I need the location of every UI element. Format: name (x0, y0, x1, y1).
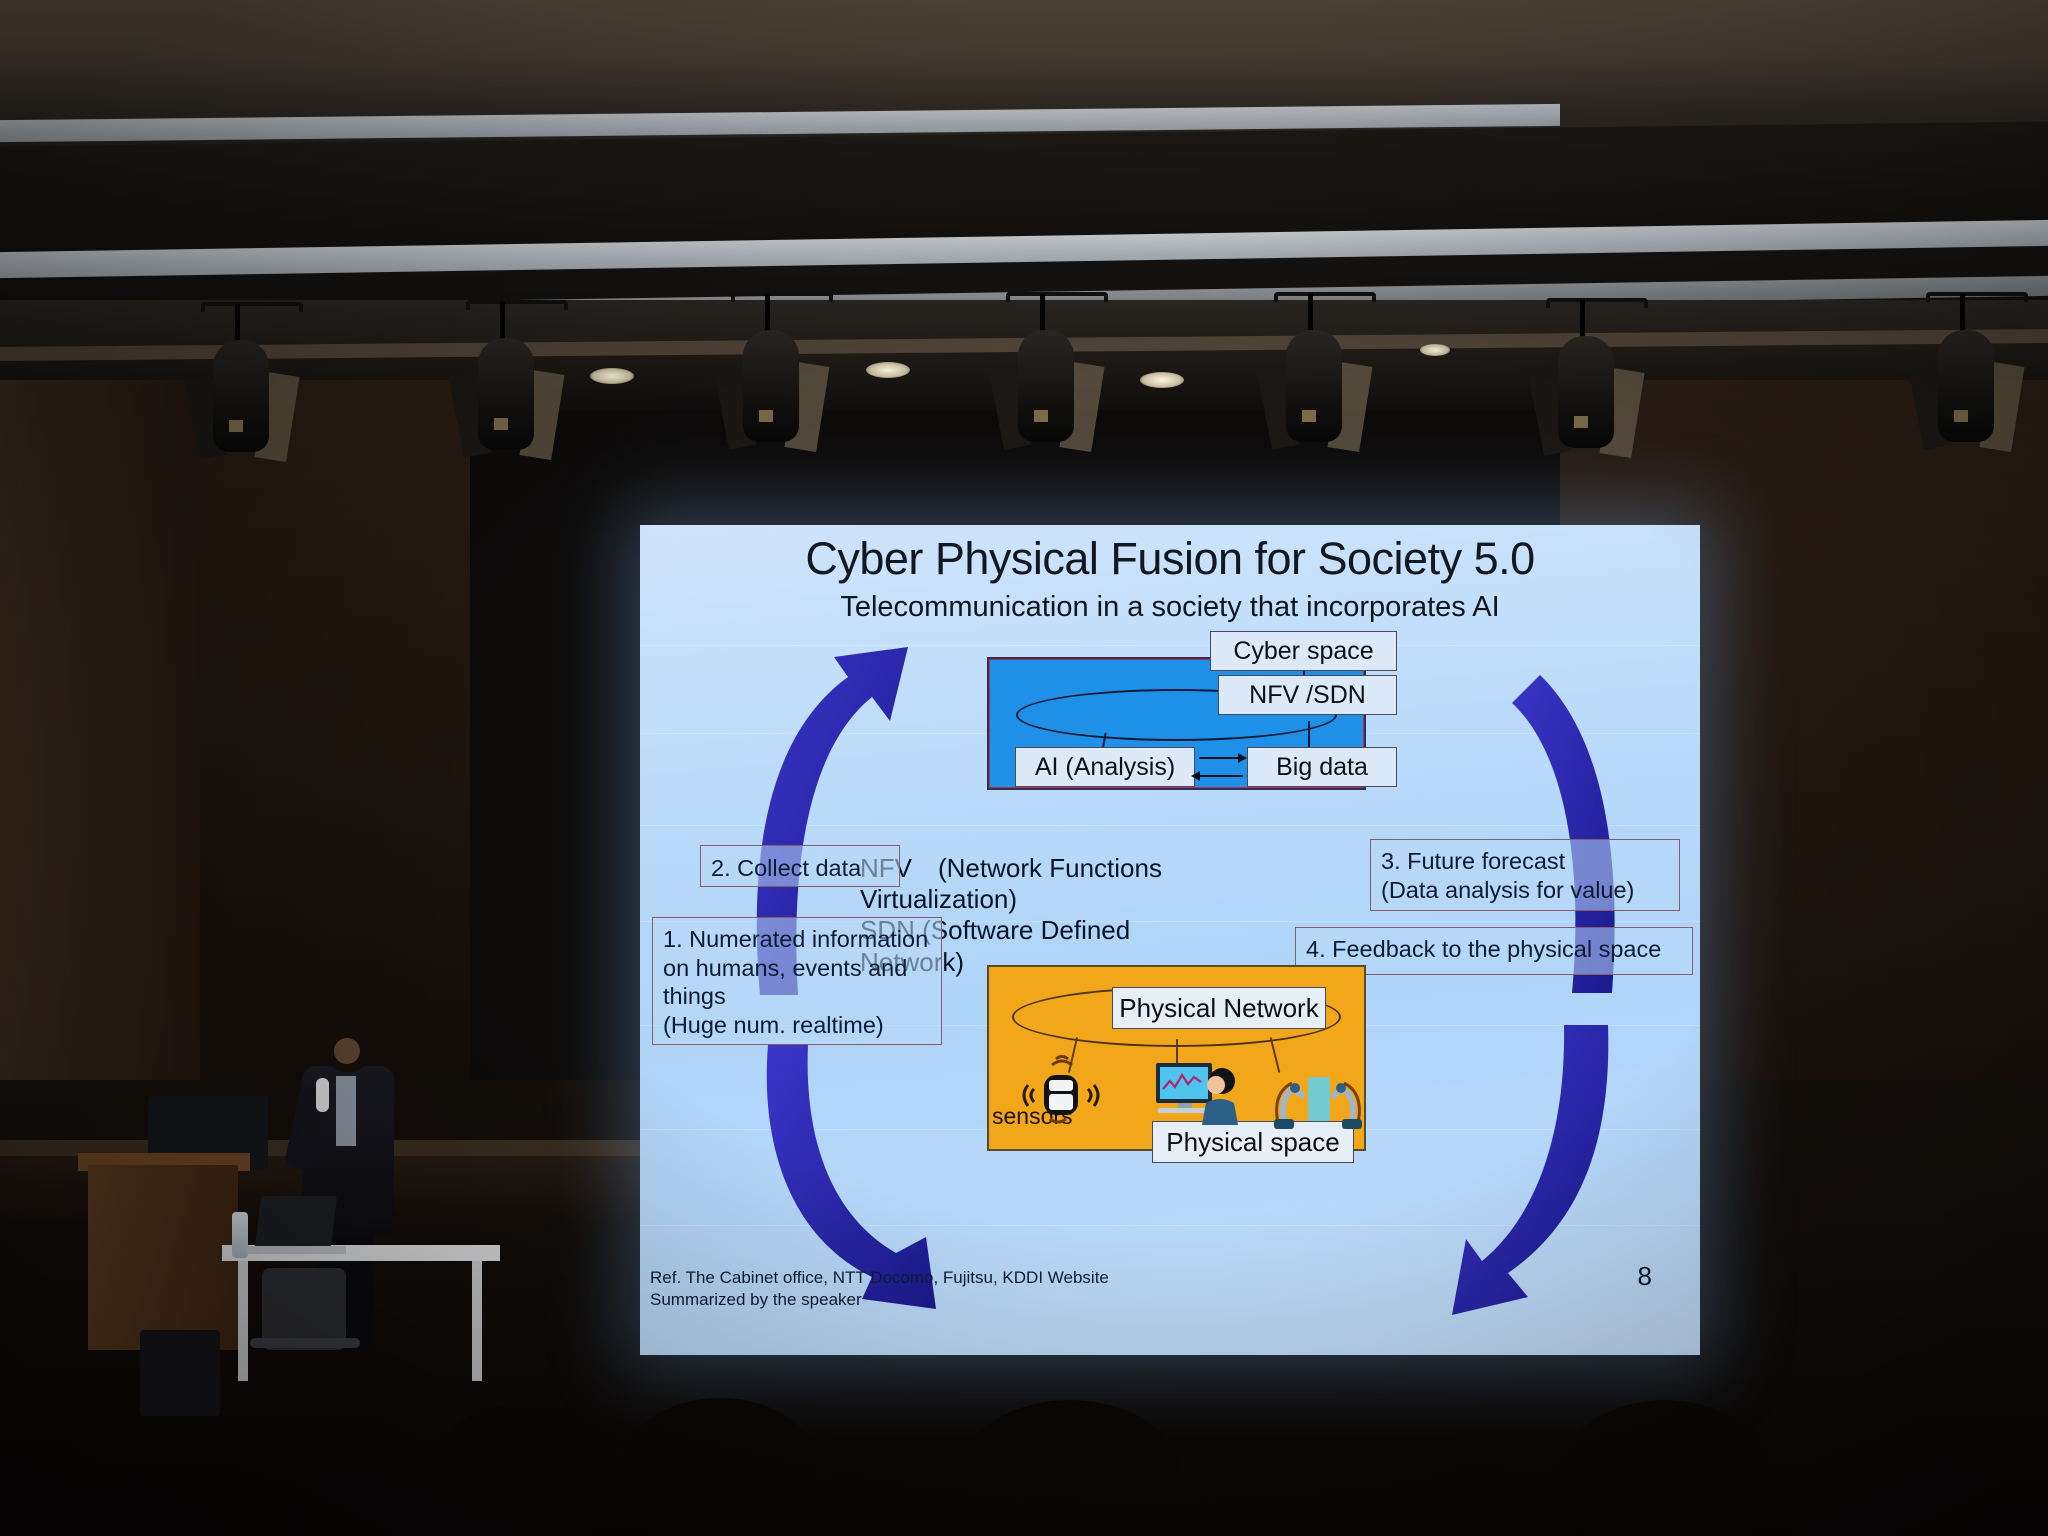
stage-spotlight-icon (205, 340, 291, 470)
connected-car-icon (1020, 1055, 1106, 1125)
acronym-line-1: NFV (Network Functions (860, 853, 1190, 884)
downlight-icon (866, 362, 910, 378)
downlight-icon (590, 368, 634, 384)
laptop-base (246, 1246, 346, 1254)
analyst-at-monitor-icon (1150, 1059, 1250, 1133)
laptop (255, 1196, 337, 1248)
step-2-collect-data-box: 2. Collect data (700, 845, 900, 887)
acronym-line-2: Virtualization) (860, 884, 1190, 915)
step-1-numerated-box: 1. Numerated information on humans, even… (652, 917, 942, 1045)
slide-content: Cyber Physical Fusion for Society 5.0 Te… (640, 525, 1700, 1355)
ai-to-bigdata-line (1199, 757, 1239, 759)
stage-spotlight-icon (1930, 330, 2016, 460)
stage-spotlight-icon (470, 338, 556, 468)
reference-note: Ref. The Cabinet office, NTT Docomo, Fuj… (650, 1267, 1109, 1311)
equipment-case (140, 1330, 220, 1416)
projection-screen: Cyber Physical Fusion for Society 5.0 Te… (640, 525, 1700, 1355)
step1-line-1: 1. Numerated information (663, 925, 931, 954)
stage-spotlight-icon (1550, 336, 1636, 466)
nfv-sdn-label: NFV /SDN (1218, 675, 1397, 715)
stage-spotlight-icon (735, 330, 821, 460)
physical-network-label: Physical Network (1112, 987, 1326, 1029)
downlight-icon (1140, 372, 1184, 388)
stage-spotlight-icon (1278, 330, 1364, 460)
left-wall-panel (0, 380, 200, 1140)
step-3-future-forecast-box: 3. Future forecast (Data analysis for va… (1370, 839, 1680, 911)
audience-head (620, 1398, 820, 1536)
step1-line-3: things (663, 982, 931, 1011)
podium (88, 1165, 238, 1350)
downlight-icon (1420, 344, 1450, 356)
arrow-feedback-down (1452, 1025, 1608, 1315)
big-data-label: Big data (1247, 747, 1397, 787)
ai-to-bigdata-arrowhead (1238, 753, 1247, 763)
reference-line-2: Summarized by the speaker (650, 1289, 1109, 1311)
bigdata-to-ai-line (1199, 775, 1243, 777)
office-chair-base (250, 1338, 360, 1348)
audience-head (430, 1404, 620, 1536)
step1-line-2: on humans, events and (663, 954, 931, 983)
reference-line-1: Ref. The Cabinet office, NTT Docomo, Fuj… (650, 1267, 1109, 1289)
step3-line-1: 3. Future forecast (1381, 847, 1669, 876)
screenshot-root: Cyber Physical Fusion for Society 5.0 Te… (0, 0, 2048, 1536)
page-number: 8 (1638, 1261, 1652, 1292)
robot-arms-icon (1272, 1059, 1364, 1133)
microphone-icon (316, 1078, 329, 1112)
cyber-space-label: Cyber space (1210, 631, 1397, 671)
step3-line-2: (Data analysis for value) (1381, 876, 1669, 905)
step1-line-4: (Huge num. realtime) (663, 1011, 931, 1040)
stage-spotlight-icon (1010, 330, 1096, 460)
ai-analysis-label: AI (Analysis) (1015, 747, 1195, 787)
bigdata-to-ai-arrowhead (1191, 771, 1200, 781)
cyber-leg-right (1308, 721, 1310, 749)
